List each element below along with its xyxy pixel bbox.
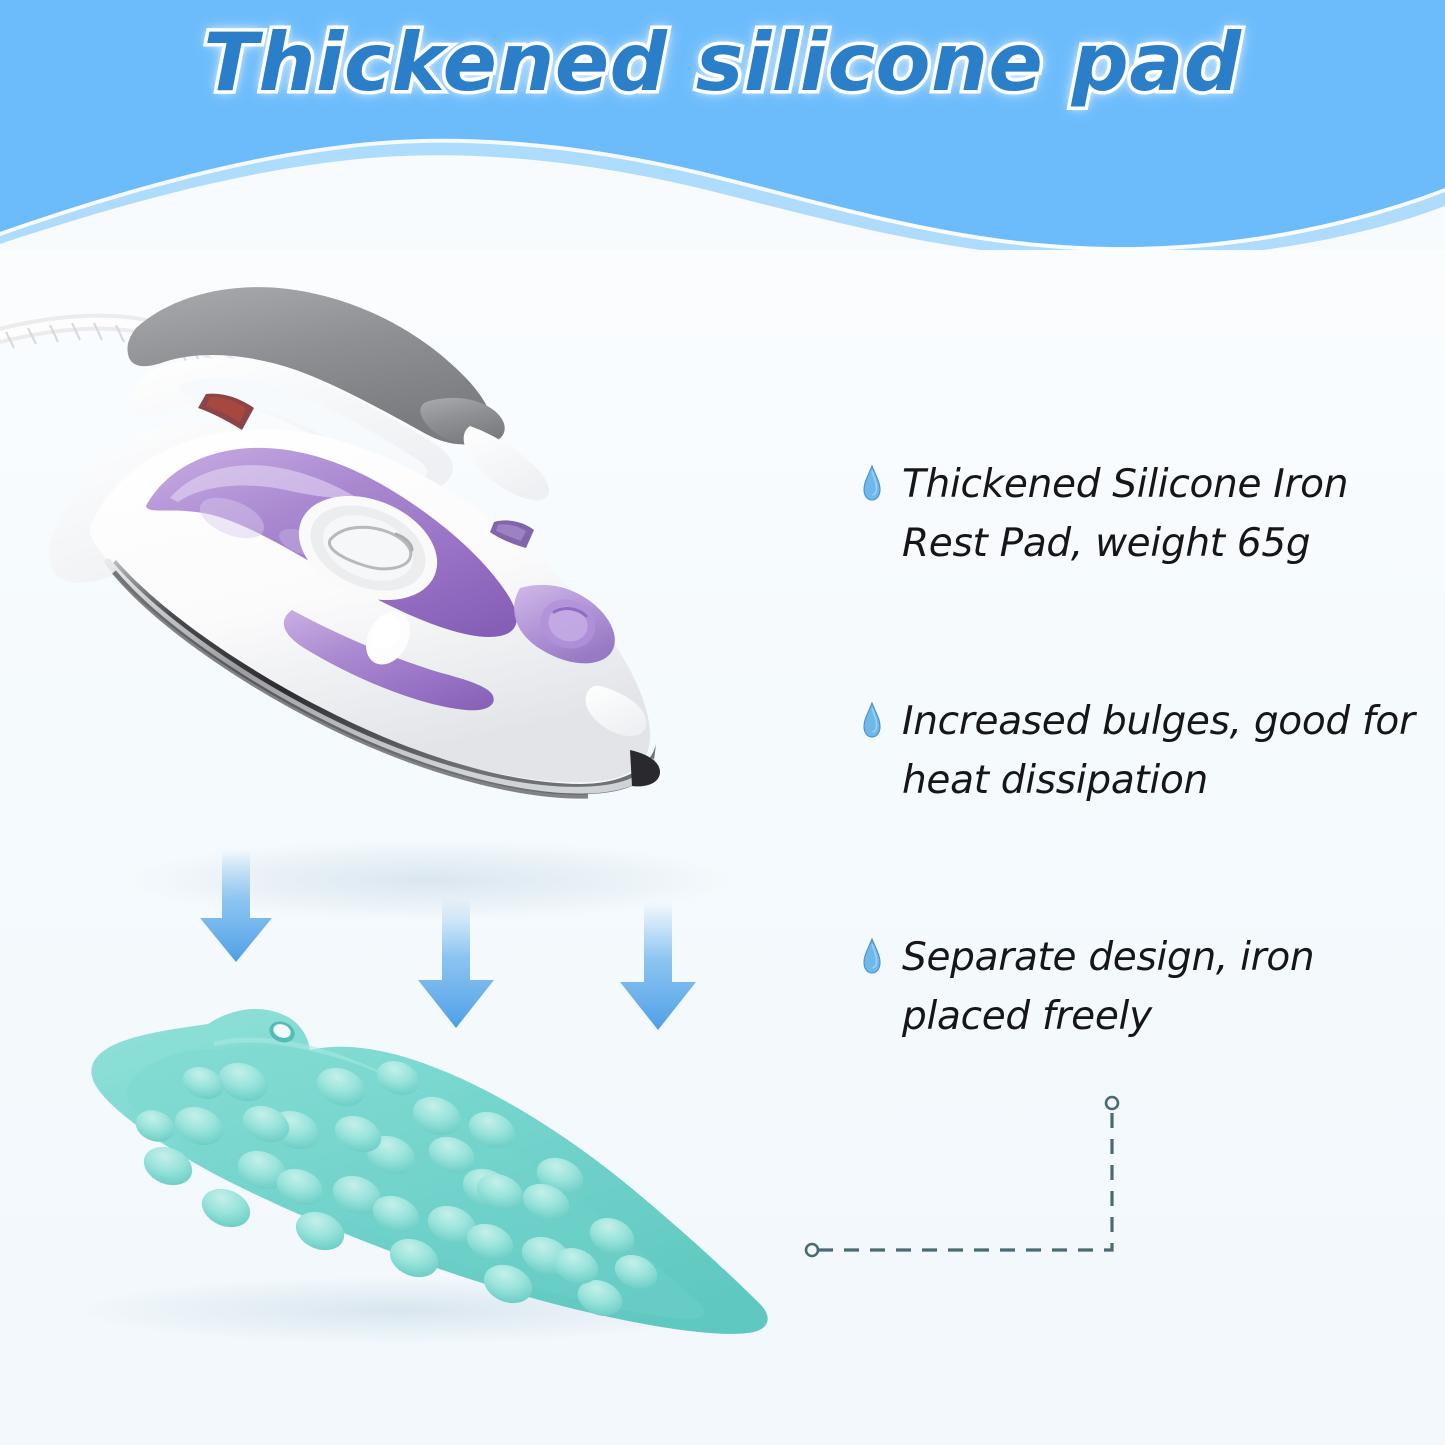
water-drop-icon — [862, 465, 882, 501]
feature-item-3: Separate design, iron placed freely — [862, 928, 1437, 1047]
iron-soleplate-tip — [630, 750, 660, 786]
feature-item-2: Increased bulges, good for heat dissipat… — [862, 692, 1437, 811]
dimension-callout-line — [790, 1085, 1150, 1275]
header-wave-graphic — [0, 0, 1445, 250]
feature-list: Thickened Silicone Iron Rest Pad, weight… — [862, 455, 1437, 1047]
downward-arrow-3 — [620, 902, 696, 1030]
steam-iron — [49, 287, 660, 796]
water-drop-icon — [862, 702, 882, 738]
callout-endpoint-top — [1106, 1097, 1118, 1109]
callout-endpoint-left — [806, 1244, 818, 1256]
iron-side-housing — [464, 426, 549, 500]
header-banner — [0, 0, 1445, 250]
feature-text-1: Thickened Silicone Iron Rest Pad, weight… — [902, 455, 1422, 574]
product-infographic: Thickened silicone pad — [0, 0, 1445, 1445]
product-illustration — [0, 250, 860, 1370]
silicone-iron-rest-pad — [70, 1009, 768, 1344]
iron-shadow — [130, 840, 730, 920]
feature-text-2: Increased bulges, good for heat dissipat… — [902, 692, 1422, 811]
product-stage — [0, 250, 860, 1370]
callout-dashed-path — [818, 1110, 1112, 1250]
feature-text-3: Separate design, iron placed freely — [902, 928, 1422, 1047]
water-drop-icon — [862, 938, 882, 974]
feature-item-1: Thickened Silicone Iron Rest Pad, weight… — [862, 455, 1437, 574]
